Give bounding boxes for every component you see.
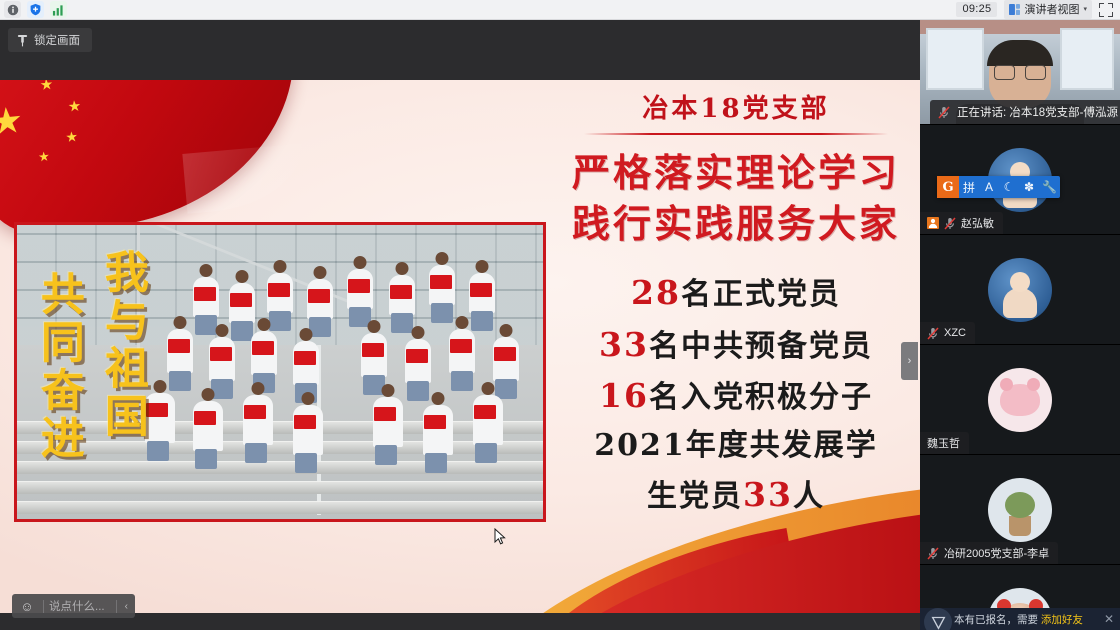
stat-row: 28名正式党员	[556, 270, 916, 316]
stat-year-line: 2021年度共发展学	[556, 425, 916, 466]
chat-input[interactable]: 说点什么...	[49, 598, 111, 614]
stat-number: 28	[631, 273, 681, 312]
ime-mode-english[interactable]: A	[979, 176, 999, 198]
ime-mode-pinyin[interactable]: 拼	[959, 176, 979, 198]
layout-grid-icon	[1009, 4, 1020, 15]
avatar	[988, 258, 1052, 322]
security-shield-icon[interactable]	[27, 1, 44, 18]
info-icon[interactable]	[4, 1, 21, 18]
stat-number: 33	[599, 325, 649, 364]
notification-text-before: 本有已报名，需要	[954, 614, 1038, 626]
stat-year-tail: 生党员33人	[556, 472, 916, 518]
ime-logo[interactable]: G	[937, 176, 959, 198]
participant-tile-speaker[interactable]: 正在讲话: 冶本18党支部-傅泓源	[920, 20, 1120, 125]
presentation-slide[interactable]: ★ ★ ★ ★ ★	[0, 80, 920, 613]
lock-screen-label: 锁定画面	[34, 32, 80, 48]
stat-text: 名入党积极分子	[649, 380, 873, 415]
stat-row: 16名入党积极分子	[556, 373, 916, 419]
participant-tile[interactable]: 魏玉哲	[920, 345, 1120, 455]
chinese-flag-decoration: ★ ★ ★ ★ ★	[0, 80, 308, 238]
notification-toast[interactable]: 本有已报名，需要 添加好友 ✕	[920, 608, 1120, 630]
slide-headline-line1: 严格落实理论学习	[556, 149, 916, 198]
clock: 09:25	[956, 2, 997, 17]
avatar	[988, 478, 1052, 542]
flag-star-icon: ★	[65, 129, 79, 144]
participant-name: 冶研2005党支部-李卓	[944, 545, 1049, 561]
divider	[584, 133, 888, 135]
divider	[116, 600, 117, 613]
participant-tile[interactable]: XZC	[920, 235, 1120, 345]
participant-name: XZC	[944, 327, 966, 339]
flag-star-icon: ★	[67, 99, 82, 115]
participant-namebar: XZC	[920, 322, 975, 344]
signal-bars-icon[interactable]	[50, 1, 67, 18]
flag-star-icon: ★	[38, 150, 51, 164]
browser-toolbar-strip	[0, 0, 920, 20]
flag-star-icon: ★	[39, 80, 54, 93]
stat-number: 16	[599, 376, 649, 415]
stat-row: 33名中共预备党员	[556, 322, 916, 368]
slide-headline-line2: 践行实践服务大家	[556, 200, 916, 249]
view-mode-label: 演讲者视图	[1024, 1, 1079, 17]
mouse-cursor-icon	[494, 528, 506, 545]
meeting-header-bar: 09:25 演讲者视图 ▾	[920, 0, 1120, 20]
fullscreen-icon[interactable]	[1099, 3, 1113, 17]
host-badge-icon	[927, 217, 939, 229]
photo-calligraphy-left: 共同奋进	[35, 271, 80, 463]
slide-branch-title: 冶本18党支部	[556, 88, 916, 125]
speaking-label: 正在讲话: 冶本18党支部-傅泓源	[957, 104, 1118, 120]
mic-muted-icon	[944, 217, 956, 230]
pin-icon	[17, 34, 28, 47]
group-photo: 我与祖国 共同奋进	[14, 222, 546, 522]
slide-text-column: 冶本18党支部 严格落实理论学习 践行实践服务大家 28名正式党员 33名中共预…	[556, 86, 916, 518]
speaking-indicator: 正在讲话: 冶本18党支部-傅泓源	[930, 100, 1120, 124]
ime-sparkle-icon[interactable]: ✽	[1019, 176, 1039, 198]
view-mode-selector[interactable]: 演讲者视图 ▾	[1004, 0, 1092, 19]
chat-input-bar[interactable]: ☺ 说点什么... ‹	[12, 594, 135, 618]
ime-moon-icon[interactable]: ☾	[999, 176, 1019, 198]
shared-screen-stage: 锁定画面 ★ ★ ★ ★ ★	[0, 20, 920, 630]
close-icon[interactable]: ✕	[1104, 612, 1114, 626]
lock-screen-button[interactable]: 锁定画面	[8, 28, 92, 52]
participant-name: 赵弘敏	[961, 215, 994, 231]
participant-name: 魏玉哲	[927, 435, 960, 451]
stat-year-number: 33	[743, 475, 793, 514]
stat-year-tail-after: 人	[793, 479, 825, 514]
participant-tile[interactable]: 冶研2005党支部-李卓	[920, 455, 1120, 565]
panel-expand-tab[interactable]: ›	[901, 342, 918, 380]
mic-muted-icon	[927, 547, 939, 560]
participant-rail[interactable]: 正在讲话: 冶本18党支部-傅泓源 赵弘敏	[920, 20, 1120, 630]
participant-namebar: 赵弘敏	[920, 212, 1003, 234]
divider	[43, 600, 44, 613]
chevron-left-icon[interactable]: ‹	[122, 601, 131, 612]
notification-text: 本有已报名，需要 添加好友	[954, 612, 1083, 627]
flag-star-icon: ★	[0, 102, 25, 141]
mic-muted-icon	[938, 106, 950, 119]
app-badge-icon	[924, 608, 952, 630]
meeting-window: 09:25 演讲者视图 ▾ 锁定画面 ★	[0, 0, 1120, 630]
stat-text: 名中共预备党员	[649, 329, 873, 364]
notification-link[interactable]: 添加好友	[1041, 614, 1083, 626]
photo-calligraphy-right: 我与祖国	[99, 249, 144, 441]
participant-namebar: 冶研2005党支部-李卓	[920, 542, 1058, 564]
stat-year-tail-before: 生党员	[647, 479, 743, 514]
ime-settings-icon[interactable]: 🔧	[1039, 176, 1060, 198]
stat-text: 名正式党员	[681, 277, 841, 312]
chevron-down-icon: ▾	[1083, 5, 1087, 13]
emoji-icon[interactable]: ☺	[16, 595, 38, 617]
avatar	[988, 368, 1052, 432]
mic-muted-icon	[927, 327, 939, 340]
ime-toolbar[interactable]: G 拼 A ☾ ✽ 🔧	[937, 176, 1060, 198]
participant-namebar: 魏玉哲	[920, 432, 969, 454]
